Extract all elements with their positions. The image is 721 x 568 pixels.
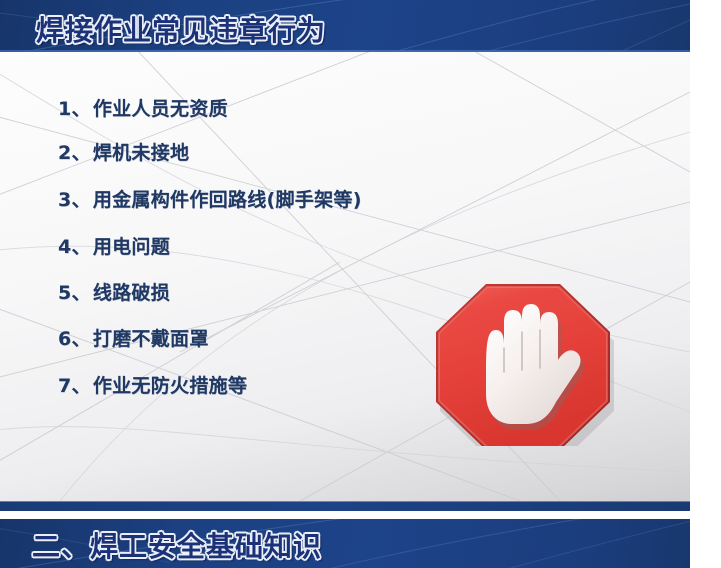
slide-one-title: 焊接作业常见违章行为 <box>36 9 326 49</box>
list-item-label: 用电问题 <box>93 236 170 258</box>
list-item: 7、作业无防火措施等 <box>58 371 247 398</box>
list-item: 3、用金属构件作回路线(脚手架等) <box>58 185 362 212</box>
slide-one-content-area: 1、作业人员无资质 2、焊机未接地 3、用金属构件作回路线(脚手架等) 4、用电… <box>0 52 690 501</box>
slide-one-header-bar: 焊接作业常见违章行为 <box>0 0 690 52</box>
list-item-label: 用金属构件作回路线(脚手架等) <box>93 189 362 211</box>
list-item: 6、打磨不戴面罩 <box>58 324 209 351</box>
list-item: 5、线路破损 <box>58 278 170 305</box>
list-item-label: 线路破损 <box>93 282 170 304</box>
list-item-number: 3、 <box>58 189 91 211</box>
list-item-label: 焊机未接地 <box>93 142 190 164</box>
list-item-number: 7、 <box>58 375 91 397</box>
list-item-number: 1、 <box>58 98 91 120</box>
list-item: 2、焊机未接地 <box>58 138 189 165</box>
list-item-number: 6、 <box>58 328 91 350</box>
list-item-number: 5、 <box>58 282 91 304</box>
list-item-number: 4、 <box>58 236 91 258</box>
list-item: 1、作业人员无资质 <box>58 94 228 121</box>
slide-welding-violations: 焊接作业常见违章行为 1、作业人员无资质 <box>0 0 721 511</box>
slide-two-title: 二、焊工安全基础知识 <box>32 525 322 565</box>
slide-one-footer-strip <box>0 501 690 511</box>
slide-two-header-bar: 二、焊工安全基础知识 <box>0 519 690 568</box>
list-item-label: 作业人员无资质 <box>93 98 228 120</box>
list-item: 4、用电问题 <box>58 232 170 259</box>
list-item-number: 2、 <box>58 142 91 164</box>
list-item-label: 打磨不戴面罩 <box>93 328 209 350</box>
stop-hand-sign-icon <box>430 274 614 446</box>
slide-welding-safety-basics: 二、焊工安全基础知识 <box>0 519 721 568</box>
list-item-label: 作业无防火措施等 <box>93 375 247 397</box>
